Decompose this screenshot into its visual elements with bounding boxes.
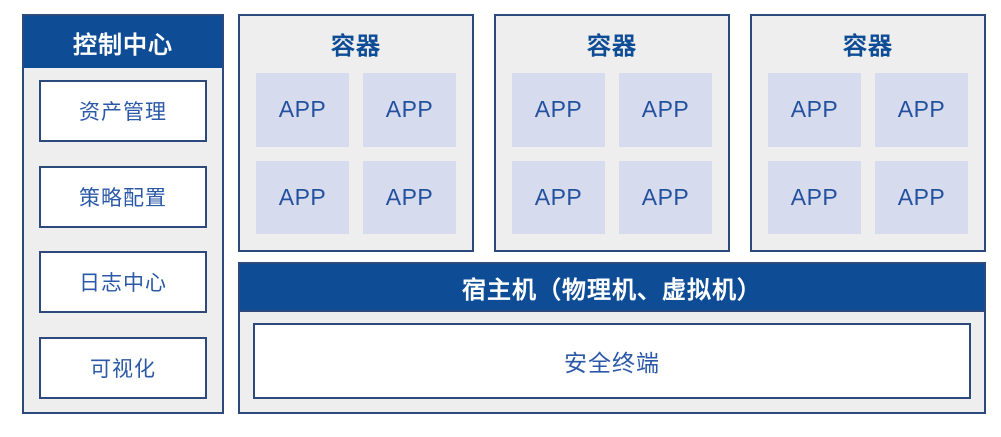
control-item-asset-management[interactable]: 资产管理 bbox=[39, 80, 207, 142]
control-center-panel: 控制中心 资产管理 策略配置 日志中心 可视化 bbox=[22, 14, 224, 414]
secure-terminal-box[interactable]: 安全终端 bbox=[253, 323, 971, 399]
container-box-1: 容器 APP APP APP APP bbox=[238, 14, 474, 252]
control-item-label: 资产管理 bbox=[79, 96, 167, 126]
control-item-log-center[interactable]: 日志中心 bbox=[39, 251, 207, 313]
control-item-label: 策略配置 bbox=[79, 182, 167, 212]
app-label: APP bbox=[535, 96, 583, 123]
container-title: 容器 bbox=[331, 26, 381, 61]
app-label: APP bbox=[642, 96, 690, 123]
app-label: APP bbox=[386, 96, 434, 123]
control-center-header: 控制中心 bbox=[24, 16, 222, 68]
app-box[interactable]: APP bbox=[256, 73, 349, 147]
app-label: APP bbox=[279, 184, 327, 211]
host-machine-section: 宿主机（物理机、虚拟机） 安全终端 bbox=[238, 262, 986, 414]
secure-terminal-container: 安全终端 bbox=[238, 312, 986, 414]
app-box[interactable]: APP bbox=[256, 161, 349, 235]
app-label: APP bbox=[898, 184, 946, 211]
app-box[interactable]: APP bbox=[768, 161, 861, 235]
host-machine-band: 宿主机（物理机、虚拟机） bbox=[238, 262, 986, 312]
app-grid: APP APP APP APP bbox=[768, 73, 968, 234]
app-label: APP bbox=[279, 96, 327, 123]
control-item-label: 可视化 bbox=[90, 353, 156, 383]
app-label: APP bbox=[898, 96, 946, 123]
app-label: APP bbox=[386, 184, 434, 211]
container-title: 容器 bbox=[587, 26, 637, 61]
app-box[interactable]: APP bbox=[619, 161, 712, 235]
control-item-label: 日志中心 bbox=[79, 267, 167, 297]
app-box[interactable]: APP bbox=[512, 161, 605, 235]
container-title: 容器 bbox=[843, 26, 893, 61]
container-box-3: 容器 APP APP APP APP bbox=[750, 14, 986, 252]
app-label: APP bbox=[791, 184, 839, 211]
app-box[interactable]: APP bbox=[512, 73, 605, 147]
app-box[interactable]: APP bbox=[875, 73, 968, 147]
app-label: APP bbox=[791, 96, 839, 123]
container-box-2: 容器 APP APP APP APP bbox=[494, 14, 730, 252]
control-item-visualization[interactable]: 可视化 bbox=[39, 337, 207, 399]
app-label: APP bbox=[642, 184, 690, 211]
app-grid: APP APP APP APP bbox=[512, 73, 712, 234]
app-label: APP bbox=[535, 184, 583, 211]
app-grid: APP APP APP APP bbox=[256, 73, 456, 234]
control-center-item-list: 资产管理 策略配置 日志中心 可视化 bbox=[24, 68, 222, 412]
app-box[interactable]: APP bbox=[363, 161, 456, 235]
app-box[interactable]: APP bbox=[768, 73, 861, 147]
runtime-stack: 容器 APP APP APP APP 容器 bbox=[238, 14, 986, 414]
containers-row: 容器 APP APP APP APP 容器 bbox=[238, 14, 986, 252]
app-box[interactable]: APP bbox=[363, 73, 456, 147]
app-box[interactable]: APP bbox=[875, 161, 968, 235]
control-item-policy-config[interactable]: 策略配置 bbox=[39, 166, 207, 228]
app-box[interactable]: APP bbox=[619, 73, 712, 147]
architecture-diagram: 控制中心 资产管理 策略配置 日志中心 可视化 容器 APP bbox=[0, 0, 1001, 437]
